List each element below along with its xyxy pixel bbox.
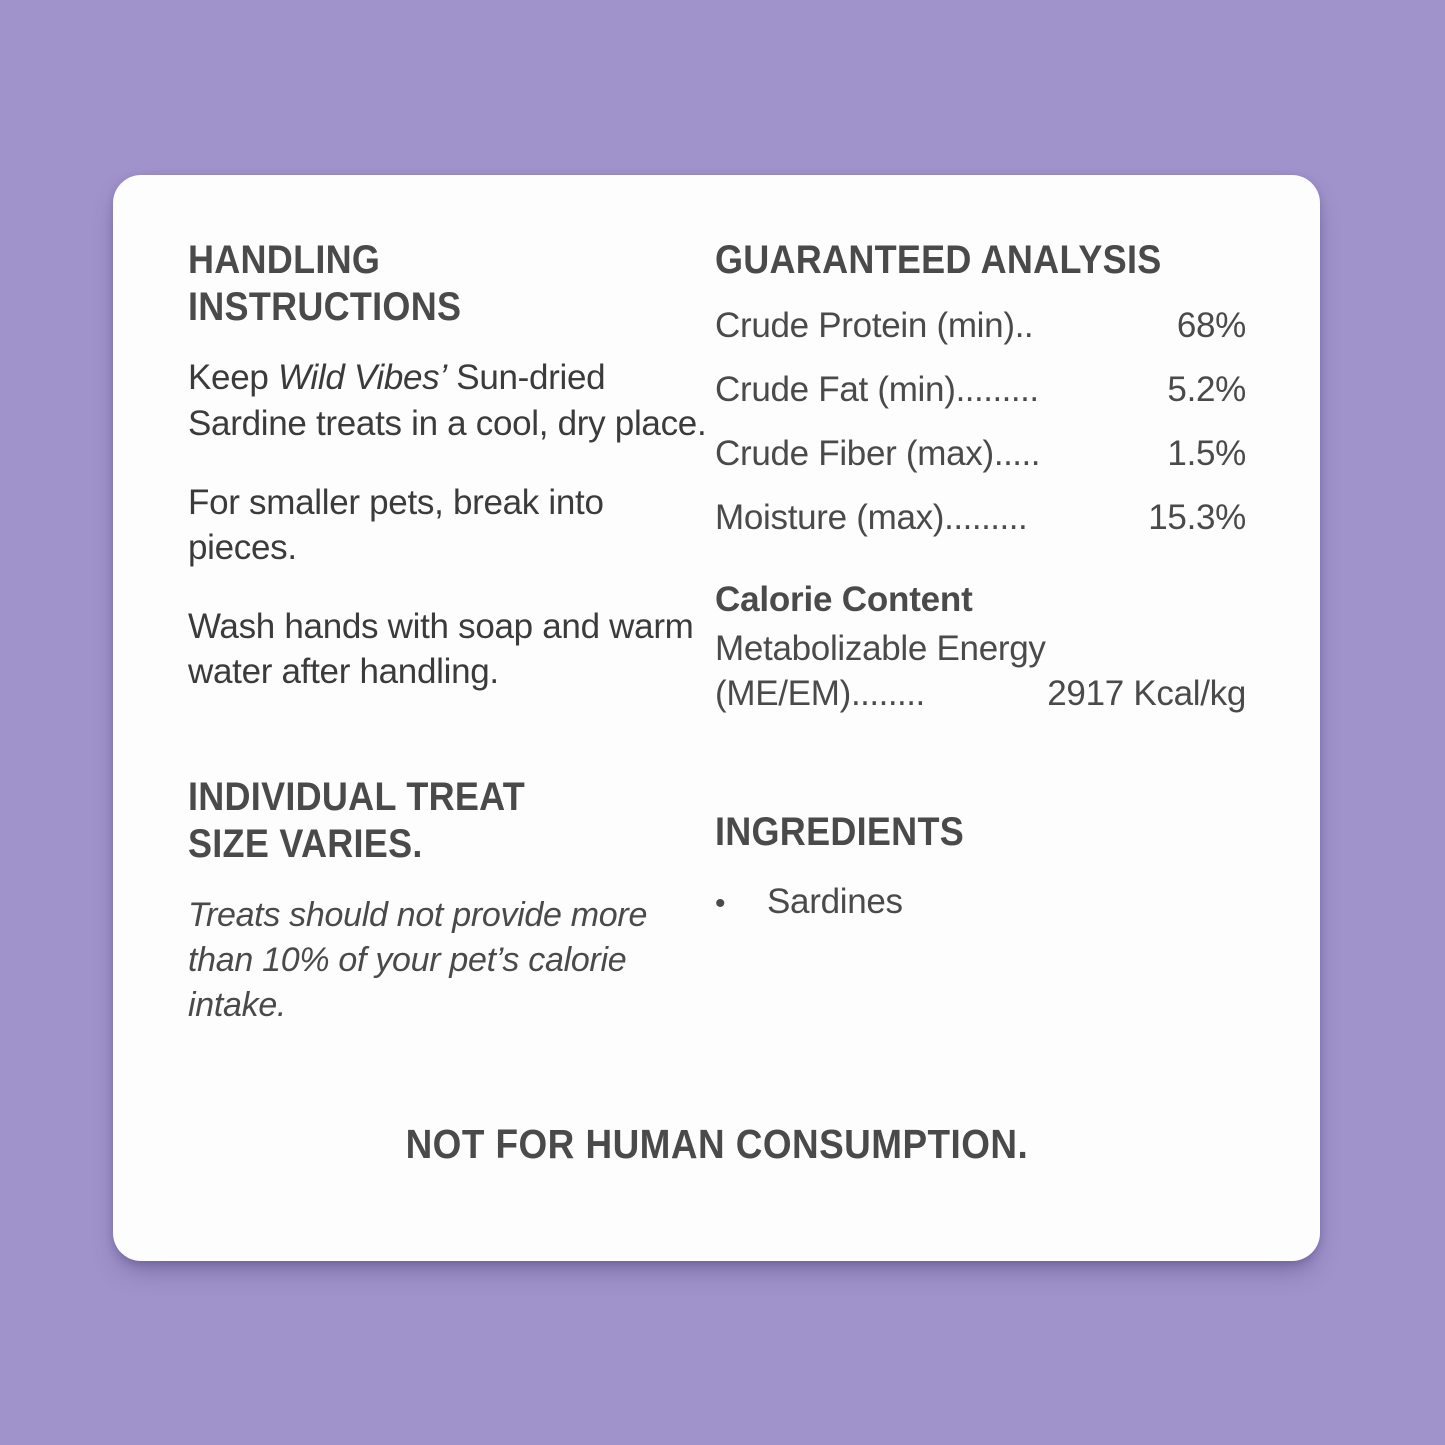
analysis-row: Crude Protein (min) .. 68% xyxy=(715,308,1246,343)
calorie-intake-note: Treats should not provide more than 10% … xyxy=(188,893,715,1029)
wash-hands-instruction-paragraph: Wash hands with soap and warm water afte… xyxy=(188,604,715,694)
analysis-value: 68% xyxy=(1177,308,1246,343)
analysis-label: Crude Fat (min) xyxy=(715,372,956,407)
human-consumption-warning-text: NOT FOR HUMAN CONSUMPTION. xyxy=(405,1121,1028,1168)
handling-instructions-section: HANDLING INSTRUCTIONS Keep Wild Vibes’ S… xyxy=(188,237,715,694)
analysis-value: 5.2% xyxy=(1167,372,1246,407)
me-em-value: 2917 Kcal/kg xyxy=(1047,672,1246,717)
dot-leader: ..... xyxy=(994,436,1168,471)
dot-leader: ......... xyxy=(956,372,1168,407)
dot-leader: .. xyxy=(1015,308,1177,343)
right-column-spacer xyxy=(715,717,1246,809)
storage-lead-text: Keep xyxy=(188,358,278,397)
ingredient-list-item: • Sardines xyxy=(715,880,1246,924)
calorie-content-heading: Calorie Content xyxy=(715,579,1246,621)
me-em-label: (ME/EM) xyxy=(715,672,851,717)
ingredient-name: Sardines xyxy=(767,880,903,924)
analysis-value: 15.3% xyxy=(1148,500,1246,535)
metabolizable-energy-label: Metabolizable Energy xyxy=(715,627,1246,672)
analysis-row: Crude Fiber (max) ..... 1.5% xyxy=(715,436,1246,471)
analysis-row: Crude Fat (min) ......... 5.2% xyxy=(715,372,1246,407)
small-pet-instruction-paragraph: For smaller pets, break into pieces. xyxy=(188,480,715,570)
ingredients-section: INGREDIENTS • Sardines xyxy=(715,809,1246,924)
dot-leader: ........ xyxy=(851,672,1047,717)
two-column-layout: HANDLING INSTRUCTIONS Keep Wild Vibes’ S… xyxy=(188,237,1246,1028)
treat-size-section: INDIVIDUAL TREAT SIZE VARIES. Treats sho… xyxy=(188,774,715,1028)
metabolizable-energy-row: (ME/EM) ........ 2917 Kcal/kg xyxy=(715,672,1246,717)
calorie-content-section: Calorie Content Metabolizable Energy (ME… xyxy=(715,579,1246,717)
label-panel: HANDLING INSTRUCTIONS Keep Wild Vibes’ S… xyxy=(0,0,1445,1445)
info-card: HANDLING INSTRUCTIONS Keep Wild Vibes’ S… xyxy=(113,175,1320,1261)
analysis-label: Moisture (max) xyxy=(715,500,944,535)
right-column: GUARANTEED ANALYSIS Crude Protein (min) … xyxy=(715,237,1246,1028)
handling-instructions-heading: HANDLING INSTRUCTIONS xyxy=(188,237,662,331)
dot-leader: ......... xyxy=(944,500,1148,535)
guaranteed-analysis-list: Crude Protein (min) .. 68% Crude Fat (mi… xyxy=(715,308,1246,535)
analysis-label: Crude Fiber (max) xyxy=(715,436,994,471)
brand-name-emphasis: Wild Vibes’ xyxy=(278,358,447,397)
guaranteed-analysis-heading: GUARANTEED ANALYSIS xyxy=(715,237,1193,284)
human-consumption-warning: NOT FOR HUMAN CONSUMPTION. xyxy=(113,1121,1320,1168)
treat-size-heading: INDIVIDUAL TREAT SIZE VARIES. xyxy=(188,774,662,868)
analysis-value: 1.5% xyxy=(1167,436,1246,471)
guaranteed-analysis-section: GUARANTEED ANALYSIS Crude Protein (min) … xyxy=(715,237,1246,535)
bullet-icon: • xyxy=(715,889,767,919)
ingredients-heading: INGREDIENTS xyxy=(715,809,1193,856)
analysis-row: Moisture (max) ......... 15.3% xyxy=(715,500,1246,535)
left-column: HANDLING INSTRUCTIONS Keep Wild Vibes’ S… xyxy=(188,237,715,1028)
analysis-label: Crude Protein (min) xyxy=(715,308,1015,343)
left-column-spacer xyxy=(188,694,715,774)
storage-instruction-paragraph: Keep Wild Vibes’ Sun-dried Sardine treat… xyxy=(188,355,715,445)
ingredients-list: • Sardines xyxy=(715,880,1246,924)
